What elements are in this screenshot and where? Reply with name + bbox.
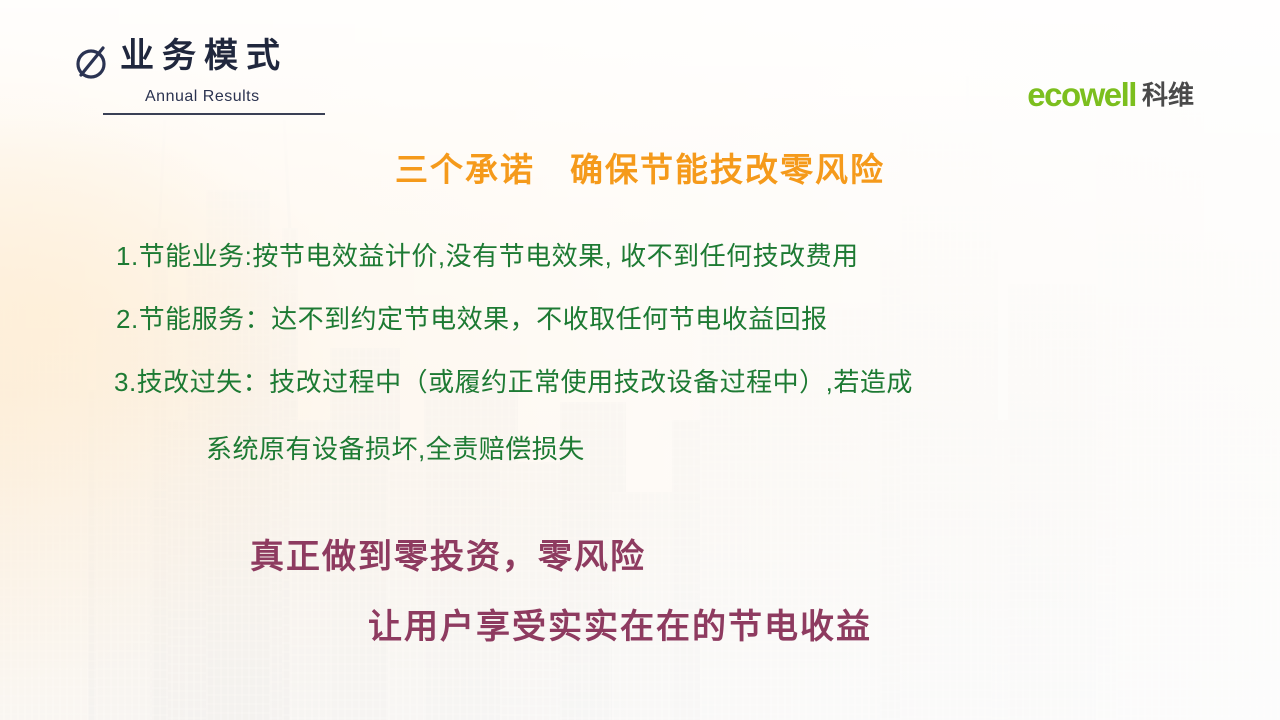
promise-item-3-continued: 系统原有设备损坏,全责赔偿损失 bbox=[206, 432, 585, 466]
closing-line-2: 让用户享受实实在在的节电收益 bbox=[368, 599, 872, 648]
page-subtitle: Annual Results bbox=[145, 88, 260, 106]
slide-content: 业务模式 Annual Results ecowell 科维 三个承诺 确保节能… bbox=[0, 0, 1280, 720]
promise-item-3: 3.技改过失：技改过程中（或履约正常使用技改设备过程中）,若造成 bbox=[114, 365, 913, 399]
promise-item-2: 2.节能服务：达不到约定节电效果，不收取任何节电收益回报 bbox=[116, 302, 828, 336]
headline: 三个承诺 确保节能技改零风险 bbox=[0, 143, 1280, 191]
closing-line-1: 真正做到零投资，零风险 bbox=[250, 529, 646, 578]
page-title: 业务模式 bbox=[120, 34, 288, 78]
header-divider bbox=[103, 113, 325, 115]
slashed-circle-icon bbox=[70, 40, 114, 84]
brand-chinese-name: 科维 bbox=[1142, 82, 1194, 108]
brand-wordmark: ecowell bbox=[1027, 78, 1136, 111]
promise-item-1: 1.节能业务:按节电效益计价,没有节电效果, 收不到任何技改费用 bbox=[116, 239, 859, 273]
brand-logo: ecowell 科维 bbox=[1027, 78, 1194, 111]
slide-canvas: 业务模式 Annual Results ecowell 科维 三个承诺 确保节能… bbox=[0, 0, 1280, 720]
